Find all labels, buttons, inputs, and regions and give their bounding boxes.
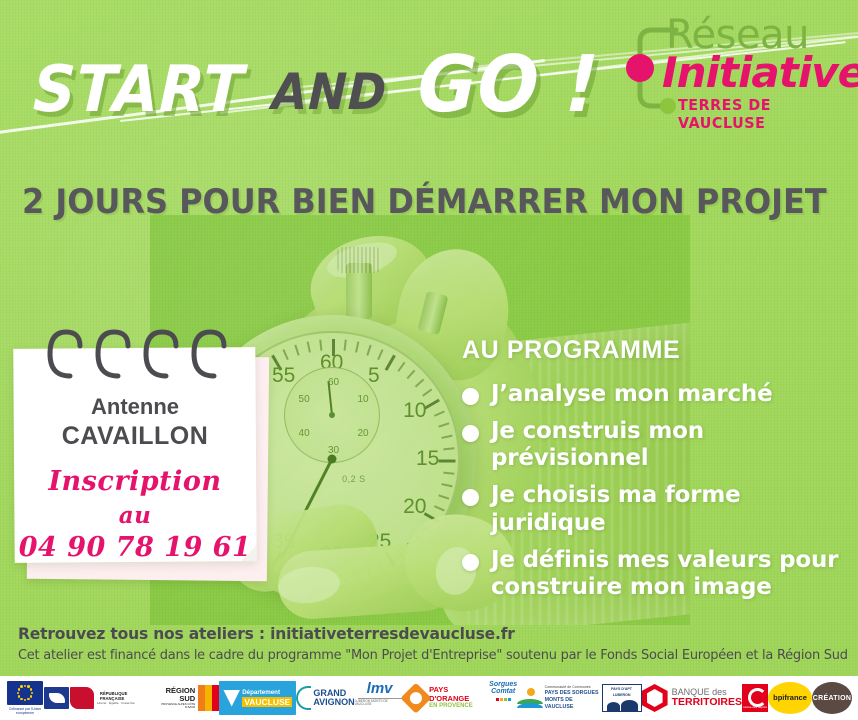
dial-tick <box>344 340 347 351</box>
partner-logo-pays-apt-luberon: PAYS D'APT LUBERON <box>602 681 642 715</box>
headline-word-start: START <box>32 53 246 127</box>
headline: STARTANDGO ! <box>24 40 634 140</box>
rf-motto: Liberté · Égalité · Fraternité <box>97 702 152 705</box>
vaucluse-v-icon <box>223 690 240 707</box>
dial-tick <box>434 505 445 511</box>
partner-logo-lmv: lmv LUBERON MONTS DE VAUCLUSE <box>355 681 405 715</box>
dial-tick <box>424 399 440 410</box>
eu-caption: Cofinancé par l'Union européenne <box>6 707 44 716</box>
region-sud-sub: PROVENCE ALPES CÔTE D'AZUR <box>152 703 195 709</box>
partner-logo-departement-vaucluse: Département VAUCLUSE <box>219 681 296 715</box>
luberon-line1: PAYS D'APT <box>603 687 641 691</box>
dial-tick <box>422 388 432 396</box>
stopwatch-pusher-icon <box>417 291 448 335</box>
sorgues-dots-icon <box>496 698 511 701</box>
headline-word-go: GO ! <box>417 40 601 130</box>
dial-tick <box>319 571 322 582</box>
dial-tick <box>355 341 359 352</box>
sorgues-line2: Comtat <box>491 688 515 695</box>
sorgues-line1: Sorgues <box>489 681 517 688</box>
stopwatch-subdial: 601020304050 <box>284 367 380 463</box>
dial-tick <box>407 370 416 380</box>
partner-logo-caisse-des-depots: caisse des dépôts <box>742 681 768 715</box>
antenne-label: Antenne <box>14 394 256 420</box>
dial-number: 55 <box>272 364 295 388</box>
programme-item: J’analyse mon marché <box>462 381 852 408</box>
stopwatch-crown-icon <box>346 263 372 319</box>
region-sud-bars-icon <box>198 685 219 711</box>
bpifrance-text: bpifrance <box>773 694 807 702</box>
sorgues-mv-line1: PAYS DES SORGUES <box>545 690 602 697</box>
sorgues-mv-line2: MONTS DE VAUCLUSE <box>545 697 602 711</box>
banque-hexagon-icon <box>642 684 668 712</box>
subdial-number: 10 <box>357 394 368 405</box>
partner-logo-creation: CRÉATION <box>812 681 852 715</box>
caisse-des-depots-icon: caisse des dépôts <box>742 684 768 712</box>
dial-tick <box>415 379 425 388</box>
fingernail-shape <box>276 564 341 606</box>
sorgues-landscape-icon <box>517 688 542 708</box>
creation-text: CRÉATION <box>813 695 851 702</box>
dial-number: 35 <box>272 530 295 554</box>
dial-number: 20 <box>403 495 426 519</box>
stopwatch-second-hand <box>280 458 334 559</box>
finger-shape <box>299 220 443 345</box>
dial-tick <box>397 362 405 372</box>
dial-tick <box>438 422 449 427</box>
partner-logo-pays-des-sorgues: Communauté de Communes PAYS DES SORGUES … <box>517 681 601 715</box>
bullet-icon <box>462 554 479 571</box>
orange-line2: EN PROVENCE <box>429 703 489 710</box>
partner-logo-grand-avignon: GRAND AVIGNON <box>296 681 354 715</box>
eu-star-icon <box>17 692 20 695</box>
dial-tick <box>271 355 282 371</box>
creation-badge: CRÉATION <box>812 682 852 714</box>
partner-logo-sorgues-comtat: Sorgues Comtat <box>489 681 517 715</box>
partner-logo-banque-des-territoires: BANQUE des TERRITOIRES <box>642 681 742 715</box>
orange-diamond-icon <box>400 683 431 714</box>
programme-title: AU PROGRAMME <box>462 336 852 365</box>
eu-star-icon <box>20 685 23 688</box>
eu-star-icon <box>27 698 30 701</box>
programme-item-label: Je définis mes valeurs pour construire m… <box>491 547 852 601</box>
fingernail-shape <box>323 236 400 285</box>
luberon-frame-icon: PAYS D'APT LUBERON <box>602 684 642 712</box>
eu-flag-icon <box>7 681 43 705</box>
footer-text: Retrouvez tous nos ateliers : initiative… <box>18 624 848 663</box>
programme-section: AU PROGRAMME J’analyse mon marchéJe cons… <box>462 336 852 611</box>
dial-tick <box>441 435 452 439</box>
subtitle: 2 JOURS POUR BIEN DÉMARRER MON PROJET <box>22 182 827 222</box>
dial-number: 15 <box>416 447 439 471</box>
dial-tick <box>438 494 449 499</box>
eu-star-icon <box>24 699 27 702</box>
dial-tick <box>397 550 405 560</box>
programme-item-label: Je choisis ma forme juridique <box>491 482 852 536</box>
dial-tick <box>355 569 359 580</box>
ga-line2: AVIGNON <box>313 698 354 707</box>
dial-tick <box>282 562 288 573</box>
eu-star-icon <box>20 698 23 701</box>
dial-tick <box>307 569 311 580</box>
bullet-icon <box>462 489 479 506</box>
logo-initiative-text: Initiative <box>662 48 858 97</box>
programme-item-label: Je construis mon prévisionnel <box>491 418 852 472</box>
au-label: au <box>14 502 256 529</box>
dial-tick <box>294 345 299 356</box>
cdc-caption: caisse des dépôts <box>742 706 768 709</box>
partner-logo-republique-francaise: RÉPUBLIQUE FRANÇAISE Liberté · Égalité ·… <box>44 681 152 715</box>
eu-star-icon <box>18 688 21 691</box>
inscription-label: Inscription <box>14 466 256 497</box>
partner-logo-region-sud: RÉGION SUD PROVENCE ALPES CÔTE D'AZUR <box>152 681 219 715</box>
dial-tick <box>332 339 335 356</box>
partner-logo-bpifrance: bpifrance <box>768 681 812 715</box>
initiative-logo: Réseau Initiative TERRES DE VAUCLUSE <box>618 16 840 120</box>
french-flag-icon <box>70 687 93 709</box>
dept-line1: Département <box>242 689 280 696</box>
bpifrance-badge: bpifrance <box>768 682 812 714</box>
dial-tick <box>319 340 322 351</box>
bullet-icon <box>462 388 479 405</box>
eu-star-icon <box>30 695 33 698</box>
subdial-number: 50 <box>299 394 310 405</box>
dial-marking: 0,2 S <box>342 474 366 484</box>
luberon-line2: LUBERON <box>603 693 641 697</box>
orange-line1: PAYS D'ORANGE <box>429 686 489 703</box>
dial-tick <box>377 349 383 360</box>
eu-star-icon <box>24 685 27 688</box>
eu-star-icon <box>30 688 33 691</box>
programme-item: Je construis mon prévisionnel <box>462 418 852 472</box>
dial-tick <box>441 483 452 487</box>
dial-tick <box>332 566 335 583</box>
subdial-number: 40 <box>299 428 310 439</box>
finger-shape <box>276 541 460 621</box>
dial-number: 25 <box>368 530 391 554</box>
headline-word-and: AND <box>271 63 388 121</box>
footer-website-line: Retrouvez tous nos ateliers : initiative… <box>18 624 823 643</box>
partner-logo-union-europeenne: Cofinancé par l'Union européenne <box>6 681 44 715</box>
stopwatch-pivot <box>328 455 337 464</box>
dial-number: 30 <box>320 543 343 567</box>
programme-list: J’analyse mon marchéJe construis mon pré… <box>462 381 852 601</box>
dial-tick <box>377 562 383 573</box>
subdial-number: 30 <box>328 445 339 456</box>
partner-logo-pays-d-orange: PAYS D'ORANGE EN PROVENCE <box>405 681 490 715</box>
subdial-hand <box>327 381 333 415</box>
dial-tick <box>407 543 416 553</box>
dial-number: 60 <box>320 351 343 375</box>
dial-tick <box>307 341 311 352</box>
dial-tick <box>271 551 282 567</box>
dial-tick <box>294 566 299 577</box>
subdial-pivot <box>329 412 335 418</box>
subdial-number: 60 <box>328 377 339 388</box>
dial-tick <box>415 535 425 544</box>
logo-terres-text: TERRES DE VAUCLUSE <box>678 96 832 132</box>
marianne-icon <box>44 687 69 709</box>
footer-funding-line: Cet atelier est financé dans le cadre du… <box>18 647 815 663</box>
dial-number: 5 <box>368 364 380 388</box>
spiral-binding-icon <box>44 326 244 380</box>
poster-root: 51015202530354045505560 601020304050 0,2… <box>0 0 858 720</box>
eu-star-icon <box>18 695 21 698</box>
programme-item-label: J’analyse mon marché <box>491 381 772 408</box>
dial-tick <box>385 355 396 371</box>
dial-tick <box>385 551 396 567</box>
dial-tick <box>422 525 432 533</box>
lmv-sub: LUBERON MONTS DE VAUCLUSE <box>355 700 405 706</box>
bullet-icon <box>462 425 479 442</box>
dept-line2: VAUCLUSE <box>242 697 292 707</box>
phone-number: 04 90 78 19 61 <box>14 532 256 563</box>
dial-tick <box>424 512 440 523</box>
lmv-mark: lmv <box>367 681 393 696</box>
subdial-number: 20 <box>357 428 368 439</box>
avignon-arc-icon <box>296 686 311 710</box>
dial-tick <box>434 410 445 416</box>
eu-star-icon <box>31 692 34 695</box>
note-card: Antenne CAVAILLON Inscription au 04 90 7… <box>14 348 268 580</box>
programme-item: Je définis mes valeurs pour construire m… <box>462 547 852 601</box>
banque-line2: TERRITOIRES <box>672 697 742 708</box>
luberon-hills-icon <box>603 701 641 711</box>
dial-tick <box>344 571 347 582</box>
dial-tick <box>366 345 371 356</box>
dial-tick <box>443 447 454 450</box>
dial-tick <box>366 566 371 577</box>
partner-logo-strip: Cofinancé par l'Union européenne RÉPUBLI… <box>0 676 858 720</box>
city-label: CAVAILLON <box>14 422 256 451</box>
programme-item: Je choisis ma forme juridique <box>462 482 852 536</box>
dial-tick <box>439 460 456 463</box>
dial-tick <box>443 472 454 475</box>
dial-number: 10 <box>403 399 426 423</box>
dial-tick <box>282 349 288 360</box>
